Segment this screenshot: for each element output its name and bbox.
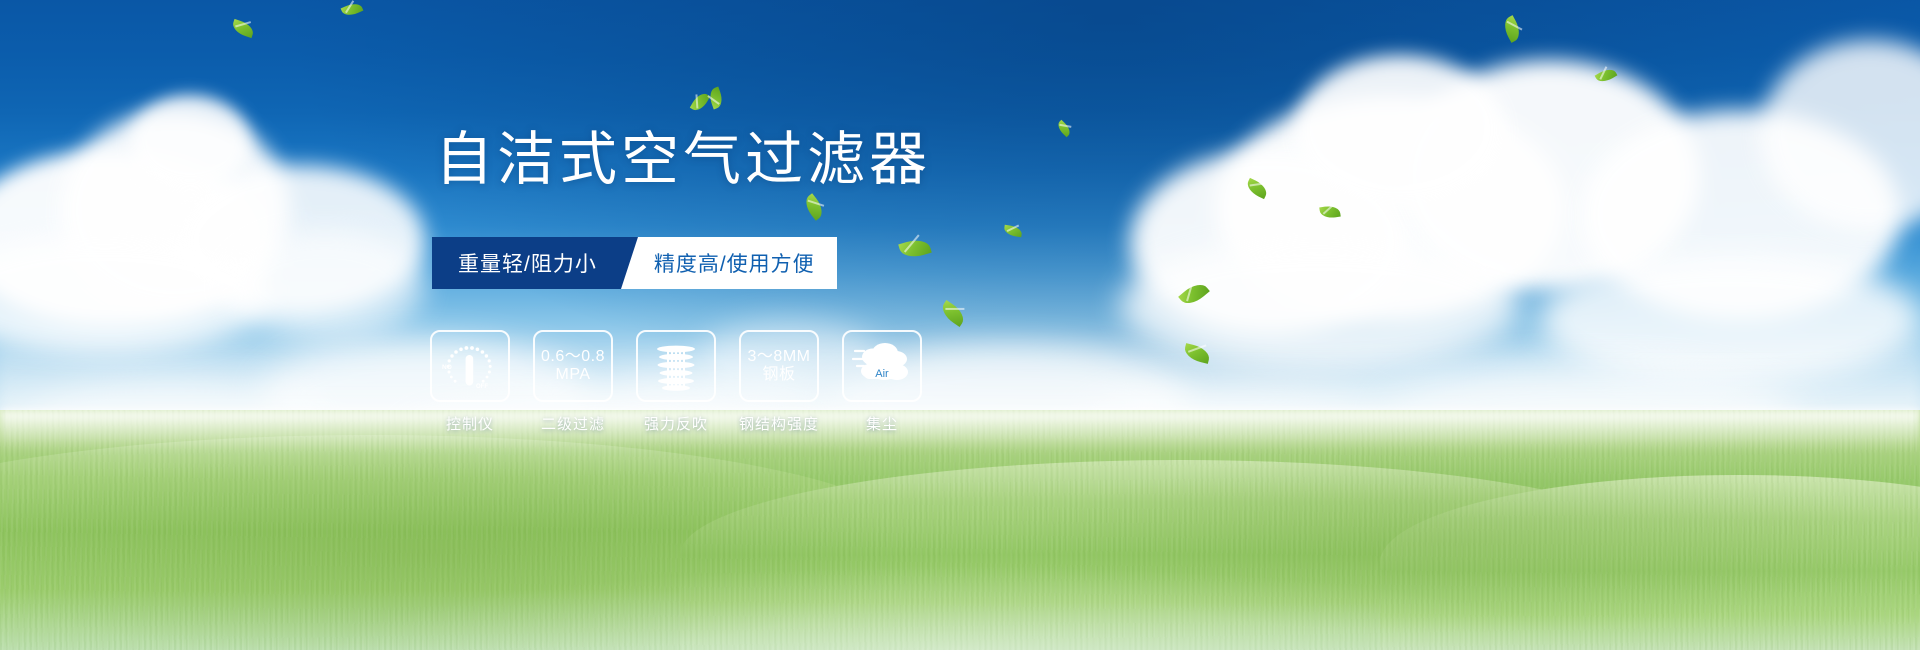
steel-material: 钢板: [748, 366, 811, 384]
blowback-coil-icon: [647, 338, 705, 394]
feature-label-blowback: 强力反吹: [644, 413, 708, 434]
feature-item-steel[interactable]: 3～8MM 钢板 钢结构强度: [739, 330, 819, 434]
feature-box-dust: Air: [842, 330, 922, 402]
pressure-value: 0.6～0.8: [541, 348, 605, 365]
page-title: 自洁式空气过滤器: [435, 128, 931, 192]
banner-content: 自洁式空气过滤器 重量轻/阻力小 精度高/使用方便: [0, 0, 1920, 650]
control-dial-icon: NO OFF: [439, 338, 501, 394]
feature-item-blowback[interactable]: 强力反吹: [636, 330, 716, 434]
air-label: Air: [875, 368, 889, 380]
feature-label-filtration: 二级过滤: [541, 413, 605, 434]
feature-item-control[interactable]: NO OFF 控制仪: [430, 330, 510, 434]
dial-label-off: OFF: [476, 384, 488, 390]
feature-box-steel: 3～8MM 钢板: [739, 330, 819, 402]
feature-box-filtration: 0.6～0.8 MPA: [533, 330, 613, 402]
feature-item-dust[interactable]: Air 集尘: [842, 330, 922, 434]
feature-tabs: 重量轻/阻力小 精度高/使用方便: [432, 237, 837, 289]
feature-box-blowback: [636, 330, 716, 402]
pressure-text-icon: 0.6～0.8 MPA: [541, 348, 605, 385]
tab-weight-resistance[interactable]: 重量轻/阻力小: [432, 237, 621, 289]
feature-box-control: NO OFF: [430, 330, 510, 402]
tab-precision-convenience[interactable]: 精度高/使用方便: [620, 237, 837, 289]
product-hero-banner: 自洁式空气过滤器 重量轻/阻力小 精度高/使用方便: [0, 0, 1920, 650]
air-cloud-icon: Air: [851, 340, 913, 392]
feature-label-steel: 钢结构强度: [739, 413, 819, 434]
steel-plate-text-icon: 3～8MM 钢板: [748, 348, 811, 385]
dial-label-on: NO: [442, 364, 452, 371]
pressure-unit: MPA: [541, 366, 605, 384]
feature-label-dust: 集尘: [866, 413, 898, 434]
feature-item-filtration[interactable]: 0.6～0.8 MPA 二级过滤: [533, 330, 613, 434]
feature-label-control: 控制仪: [446, 413, 494, 434]
feature-icon-list: NO OFF 控制仪 0.6～0.8 MPA 二级过滤: [430, 330, 922, 434]
steel-thickness: 3～8MM: [748, 348, 811, 365]
